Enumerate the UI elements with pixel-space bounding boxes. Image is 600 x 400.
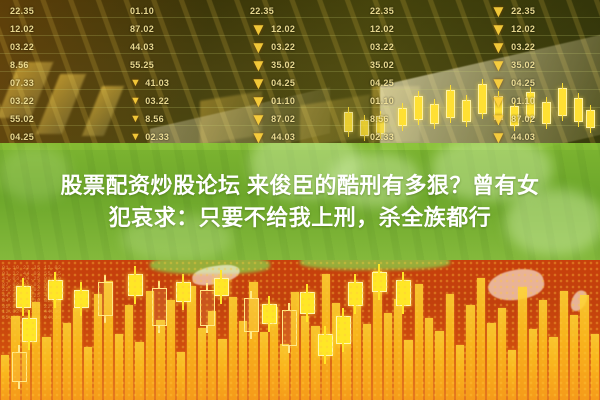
thumbnail-image: 22.3512.0203.228.5607.3303.2255.0204.250…: [0, 0, 600, 400]
ticker-row: 22.35: [10, 2, 120, 20]
ticker-row: ▼01.10: [250, 92, 360, 110]
ticker-value: 01.10: [130, 6, 154, 16]
ticker-value: 02.33: [145, 132, 169, 142]
ticker-row: ▼03.22: [250, 38, 360, 56]
ticker-row: 07.33: [10, 74, 120, 92]
ticker-value: 12.02: [511, 24, 535, 34]
ticker-row: 03.22: [10, 38, 120, 56]
ticker-value: 03.22: [145, 96, 169, 106]
ticker-number-grid: 22.3512.0203.228.5607.3303.2255.0204.250…: [0, 0, 600, 150]
ticker-value: 04.25: [511, 78, 535, 88]
arrow-down-icon: ▼: [250, 21, 267, 38]
ticker-value: 12.02: [10, 24, 34, 34]
ticker-value: 55.25: [130, 60, 154, 70]
ticker-value: 8.56: [145, 114, 164, 124]
ticker-row: ▼22.35: [490, 2, 600, 20]
arrow-down-icon: ▼: [490, 111, 507, 128]
ticker-value: 12.02: [370, 24, 394, 34]
arrow-down-icon: ▼: [490, 3, 507, 20]
ticker-value: 8.56: [10, 60, 29, 70]
ticker-value: 01.10: [370, 96, 394, 106]
ticker-value: 02.33: [370, 132, 394, 142]
ticker-row: 12.02: [370, 20, 480, 38]
headline-line-2: 犯哀求：只要不给我上刑，杀全族都行: [109, 203, 492, 233]
ticker-value: 41.03: [145, 78, 169, 88]
arrow-down-icon: ▼: [250, 93, 267, 110]
ticker-row: ▼03.22: [130, 92, 240, 110]
ticker-row: 55.25: [130, 56, 240, 74]
headline-line-1: 股票配资炒股论坛 来俊臣的酷刑有多狠？曾有女: [60, 171, 539, 201]
arrow-down-icon: ▼: [250, 75, 267, 92]
ticker-value: 01.10: [511, 96, 535, 106]
ticker-row: 44.03: [130, 38, 240, 56]
ticker-row: 22.35: [370, 2, 480, 20]
ticker-row: 8.56: [370, 110, 480, 128]
ticker-value: 87.02: [130, 24, 154, 34]
ticker-row: ▼8.56: [130, 110, 240, 128]
arrow-down-icon: ▼: [490, 75, 507, 92]
dot-mesh-texture: [0, 260, 600, 400]
ticker-column: 22.3512.0203.228.5607.3303.2255.0204.250…: [0, 2, 120, 150]
ticker-row: 01.10: [370, 92, 480, 110]
arrow-down-icon: ▼: [490, 93, 507, 110]
ticker-row: ▼01.10: [490, 92, 600, 110]
ticker-row: ▼41.03: [130, 74, 240, 92]
ticker-value: 22.35: [511, 6, 535, 16]
arrow-down-icon: ▼: [490, 57, 507, 74]
ticker-value: 35.02: [511, 60, 535, 70]
ticker-value: 22.35: [250, 6, 274, 16]
headline-band: 股票配资炒股论坛 来俊臣的酷刑有多狠？曾有女 犯哀求：只要不给我上刑，杀全族都行: [0, 143, 600, 260]
ticker-value: 87.02: [511, 114, 535, 124]
ticker-row: 87.02: [130, 20, 240, 38]
ticker-value: 44.03: [511, 132, 535, 142]
market-ticker-board: 22.3512.0203.228.5607.3303.2255.0204.250…: [0, 0, 600, 150]
ticker-value: 01.10: [271, 96, 295, 106]
ticker-row: 04.25: [370, 74, 480, 92]
arrow-down-icon: ▼: [490, 39, 507, 56]
ticker-row: ▼87.02: [250, 110, 360, 128]
ticker-row: 01.10: [130, 2, 240, 20]
ticker-value: 22.35: [10, 6, 34, 16]
ticker-row: 03.22: [10, 92, 120, 110]
arrow-down-icon: ▼: [130, 114, 141, 125]
ticker-row: ▼04.25: [250, 74, 360, 92]
arrow-down-icon: ▼: [490, 21, 507, 38]
ticker-value: 8.56: [370, 114, 389, 124]
ticker-value: 12.02: [271, 24, 295, 34]
ticker-row: ▼35.02: [490, 56, 600, 74]
ticker-value: 04.25: [370, 78, 394, 88]
arrow-down-icon: ▼: [250, 57, 267, 74]
ticker-row: 35.02: [370, 56, 480, 74]
ticker-row: ▼87.02: [490, 110, 600, 128]
ticker-row: ▼12.02: [250, 20, 360, 38]
ticker-column: ▼22.35▼12.02▼03.22▼35.02▼04.25▼01.10▼87.…: [480, 2, 600, 150]
arrow-down-icon: ▼: [250, 111, 267, 128]
ticker-value: 44.03: [271, 132, 295, 142]
ticker-row: ▼12.02: [490, 20, 600, 38]
ticker-row: 12.02: [10, 20, 120, 38]
ticker-value: 07.33: [10, 78, 34, 88]
ticker-column: 22.3512.0203.2235.0204.2501.108.5602.334…: [360, 2, 480, 150]
ticker-value: 04.25: [10, 132, 34, 142]
ticker-value: 04.25: [271, 78, 295, 88]
ticker-row: ▼03.22: [490, 38, 600, 56]
arrow-down-icon: ▼: [130, 96, 141, 107]
ticker-value: 03.22: [271, 42, 295, 52]
ticker-value: 03.22: [511, 42, 535, 52]
arrow-down-icon: ▼: [130, 78, 141, 89]
ticker-value: 44.03: [130, 42, 154, 52]
ticker-row: ▼04.25: [490, 74, 600, 92]
ticker-value: 87.02: [271, 114, 295, 124]
arrow-down-icon: ▼: [250, 39, 267, 56]
ticker-value: 03.22: [370, 42, 394, 52]
ticker-value: 03.22: [10, 42, 34, 52]
orange-chart-band: 01.10 22.35 12.02 03.22 44.03 55.25 41.0…: [0, 260, 600, 400]
ticker-row: ▼35.02: [250, 56, 360, 74]
ticker-value: 03.22: [10, 96, 34, 106]
ticker-value: 35.02: [370, 60, 394, 70]
ticker-column: 01.1087.0244.0355.25▼41.03▼03.22▼8.56▼02…: [120, 2, 240, 150]
headline-text-block: 股票配资炒股论坛 来俊臣的酷刑有多狠？曾有女 犯哀求：只要不给我上刑，杀全族都行: [0, 143, 600, 260]
ticker-row: 22.35: [250, 2, 360, 20]
ticker-row: 8.56: [10, 56, 120, 74]
ticker-row: 03.22: [370, 38, 480, 56]
ticker-value: 55.02: [10, 114, 34, 124]
ticker-value: 35.02: [271, 60, 295, 70]
arrow-down-icon: ▼: [130, 132, 141, 143]
ticker-column: 22.35▼12.02▼03.22▼35.02▼04.25▼01.10▼87.0…: [240, 2, 360, 150]
ticker-value: 22.35: [370, 6, 394, 16]
ticker-row: 55.02: [10, 110, 120, 128]
